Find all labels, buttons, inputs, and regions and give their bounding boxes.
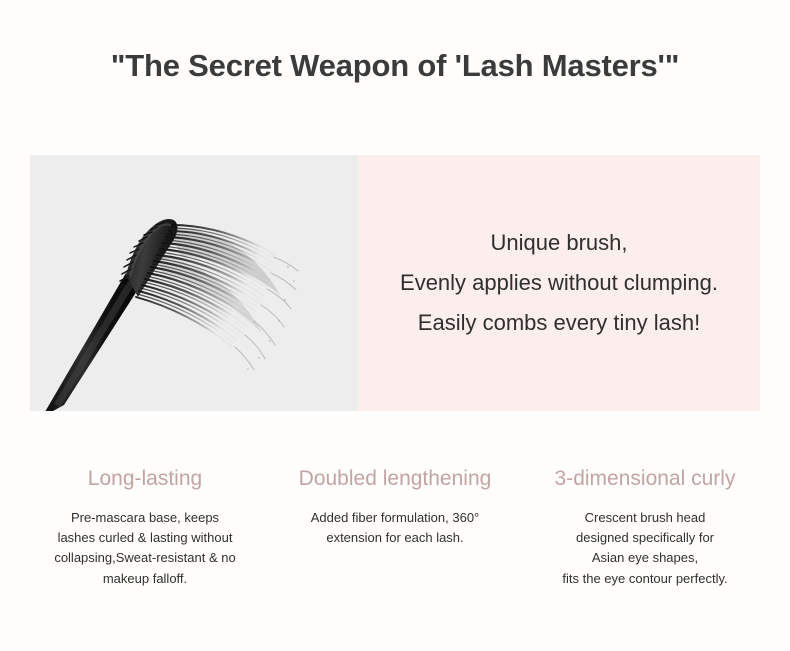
feature-body-line: lashes curled & lasting without xyxy=(24,528,266,548)
hero-tagline-line-2: Evenly applies without clumping. xyxy=(400,263,718,303)
feature-body: Added fiber formulation, 360° extension … xyxy=(274,508,516,548)
feature-body-line: Crescent brush head xyxy=(524,508,766,528)
feature-column-doubled-lengthening: Doubled lengthening Added fiber formulat… xyxy=(270,466,520,589)
feature-heading: 3-dimensional curly xyxy=(524,466,766,491)
feature-body-line: fits the eye contour perfectly. xyxy=(524,569,766,589)
feature-body-line: Asian eye shapes, xyxy=(524,548,766,568)
feature-heading: Doubled lengthening xyxy=(274,466,516,491)
feature-body-line: Pre-mascara base, keeps xyxy=(24,508,266,528)
feature-body-line: Added fiber formulation, 360° xyxy=(274,508,516,528)
feature-heading: Long-lasting xyxy=(24,466,266,491)
feature-columns: Long-lasting Pre-mascara base, keeps las… xyxy=(20,466,770,589)
feature-column-long-lasting: Long-lasting Pre-mascara base, keeps las… xyxy=(20,466,270,589)
page-title-bar: "The Secret Weapon of 'Lash Masters'" xyxy=(0,48,790,84)
hero-tagline-line-1: Unique brush, xyxy=(491,223,628,263)
feature-body-line: extension for each lash. xyxy=(274,528,516,548)
mascara-wand-icon xyxy=(30,155,358,411)
hero-tagline-line-3: Easily combs every tiny lash! xyxy=(418,303,700,343)
feature-body: Crescent brush head designed specificall… xyxy=(524,508,766,589)
feature-body-line: designed specifically for xyxy=(524,528,766,548)
feature-body: Pre-mascara base, keeps lashes curled & … xyxy=(24,508,266,589)
hero-tagline-panel: Unique brush, Evenly applies without clu… xyxy=(358,155,760,411)
feature-column-3-dimensional-curly: 3-dimensional curly Crescent brush head … xyxy=(520,466,770,589)
hero-product-image-panel xyxy=(30,155,358,411)
hero-banner: Unique brush, Evenly applies without clu… xyxy=(30,155,760,411)
page-title: "The Secret Weapon of 'Lash Masters'" xyxy=(0,48,790,84)
feature-body-line: collapsing,Sweat-resistant & no xyxy=(24,548,266,568)
feature-body-line: makeup falloff. xyxy=(24,569,266,589)
